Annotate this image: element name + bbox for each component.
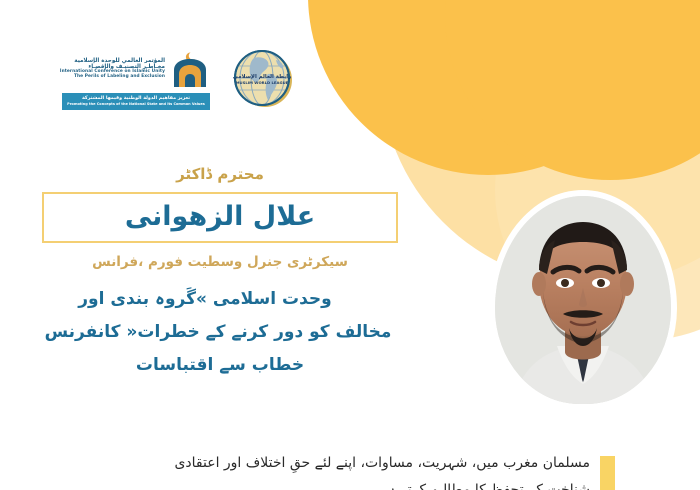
conference-logo: المؤتمر العالمي للوحدة الإسلامية مخـاطـر… <box>62 48 210 110</box>
poster-canvas: المؤتمر العالمي للوحدة الإسلامية مخـاطـر… <box>0 0 700 490</box>
conference-logo-english-line-2: The Perils of Labeling and Exclusion <box>60 75 165 80</box>
speaker-name-box: علال الزهوانی <box>42 192 398 243</box>
globe-english-label: MUSLIM WORLD LEAGUE <box>236 80 289 85</box>
quote-line-1: مسلمان مغرب میں، شہریت، مساوات، اپنے لئے… <box>88 450 590 477</box>
conference-tagline-arabic: تعزيز مفاهيم الدولة الوطنية وقيمها المشت… <box>66 96 206 101</box>
conference-logo-tagline-bar: تعزيز مفاهيم الدولة الوطنية وقيمها المشت… <box>62 93 210 110</box>
speaker-name: علال الزهوانی <box>44 201 396 232</box>
speaker-role: سیکرٹری جنرل وسطیت فورم ،فرانس <box>0 254 440 270</box>
conference-title: وحدت اسلامی »گَروہ بندی اور مخالف کو دور… <box>0 283 440 382</box>
speaker-salutation: محترم ڈاکٹر <box>0 165 440 183</box>
quote-accent-bar <box>600 456 615 490</box>
decorative-circle-overlap <box>445 0 700 180</box>
quote-line-2: شناخت کے تحفظ کا مطالبہ کرتے ہیں <box>88 477 590 490</box>
speaker-portrait <box>495 196 671 404</box>
quote-text: مسلمان مغرب میں، شہریت، مساوات، اپنے لئے… <box>88 450 590 490</box>
decorative-circle-primary <box>308 0 668 175</box>
conference-logo-top: المؤتمر العالمي للوحدة الإسلامية مخـاطـر… <box>62 48 210 90</box>
conference-logo-wordmark: المؤتمر العالمي للوحدة الإسلامية مخـاطـر… <box>60 58 165 80</box>
conference-title-line-3: خطاب سے اقتباسات <box>0 349 440 382</box>
globe-icon: رابطة العالم الإسلامي MUSLIM WORLD LEAGU… <box>232 48 294 110</box>
conference-title-line-2: مخالف کو دور کرنے کے خطرات« کانفرنس <box>0 316 436 349</box>
conference-title-line-1: وحدت اسلامی »گَروہ بندی اور <box>0 283 410 316</box>
conference-tagline-english: Promoting the Concepts of the National S… <box>66 102 206 106</box>
mosque-crescent-icon <box>170 50 210 88</box>
speaker-text-column: محترم ڈاکٹر علال الزهوانی سیکرٹری جنرل و… <box>0 165 440 382</box>
logo-row: المؤتمر العالمي للوحدة الإسلامية مخـاطـر… <box>62 48 294 110</box>
